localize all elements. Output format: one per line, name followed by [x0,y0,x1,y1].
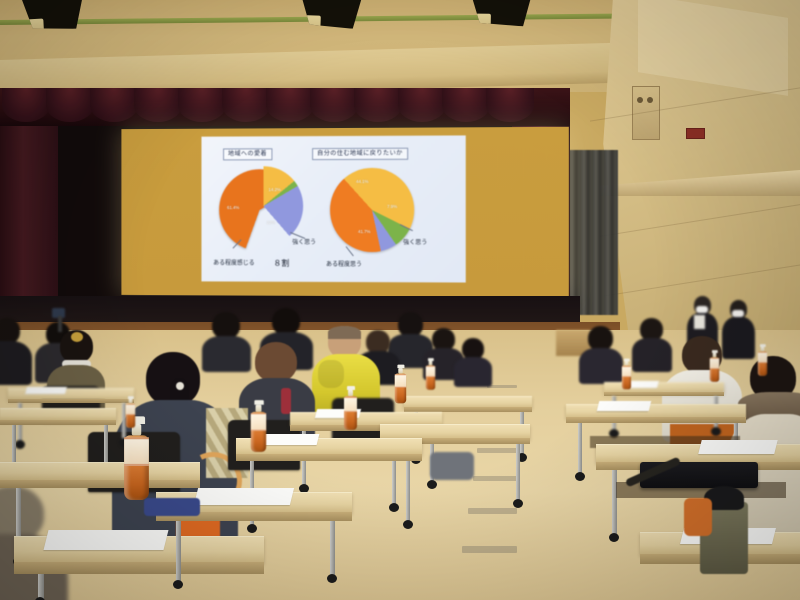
caption-left-emphasis: ８割 [273,260,289,268]
stage-spotlight-icon [299,0,362,29]
caption-right-2: 強く思う [403,240,427,246]
seminar-hall-photo: 地域への愛着 自分の住む地域に戻りたいか 61.4% 14.2% 22% ある程… [0,0,800,600]
handout-paper [25,387,67,394]
handout-paper [261,434,320,445]
caption-left-1: ある程度感じる [213,261,254,267]
drink-bottle [758,344,767,376]
floor-aisle-marker [462,546,517,553]
pie-slice-label: 14.2% [268,188,280,192]
pie-slice-label: 7.9% [387,205,397,209]
projection-screen: 地域への愛着 自分の住む地域に戻りたいか 61.4% 14.2% 22% ある程… [121,127,568,297]
handout-paper [597,401,651,411]
pie-slice-label: 41.7% [358,230,370,234]
stage-spotlight-icon [470,0,533,27]
drink-bottle [395,365,406,404]
camera-arm [58,316,62,332]
drink-bottle [710,350,719,382]
wall-panel [638,0,788,96]
caption-right-1: ある程度思う [326,262,362,268]
pie-slice-label: 22% [266,221,275,225]
floor-aisle-marker [468,508,517,514]
floor-aisle-marker [473,476,517,481]
exit-sign-icon [686,128,705,139]
drink-bottle [124,416,149,500]
table [0,462,200,481]
pie-slice-label: 61.4% [227,206,239,210]
floor-aisle-marker [477,448,517,453]
chart-title-right: 自分の住む地域に戻りたいか [312,148,408,161]
chair-seat [144,498,200,516]
drink-bottle [251,400,266,452]
handout-paper [194,488,294,505]
drink-bottle [426,358,435,390]
orange-gloves [684,498,712,536]
handout-paper [698,440,777,454]
pie-slice-label: 44.1% [356,180,368,184]
caption-left-2: 強く思う [292,240,316,246]
stage-valance [0,88,570,126]
presentation-slide: 地域への愛着 自分の住む地域に戻りたいか 61.4% 14.2% 22% ある程… [201,135,465,282]
table [380,424,530,439]
drink-bottle [622,359,631,390]
handout-paper [44,530,169,550]
drink-bottle [126,396,135,428]
stage-spotlight-icon [21,0,85,32]
chart-title-left: 地域への愛着 [223,148,272,160]
drink-bottle [344,386,357,430]
floor-bag [430,452,474,480]
table [566,404,746,418]
